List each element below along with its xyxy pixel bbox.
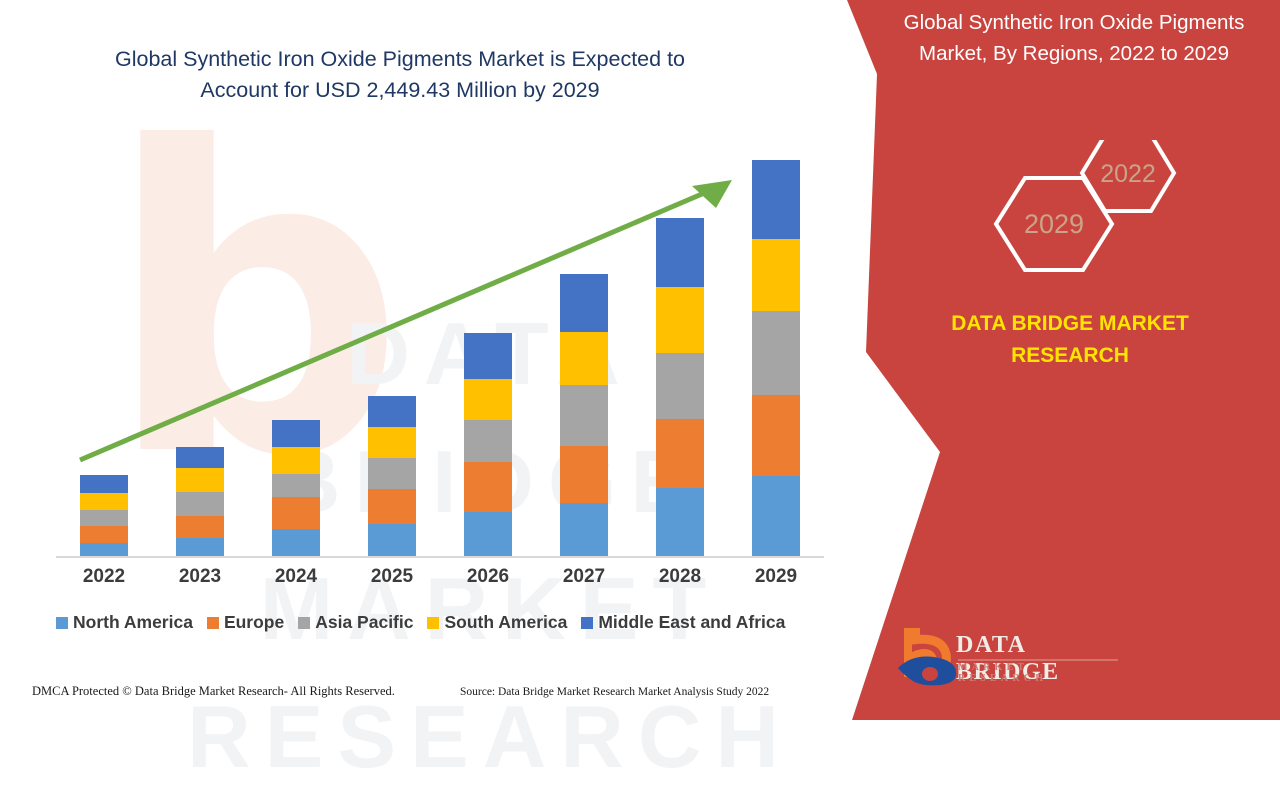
bar-segment-2024-europe <box>272 497 320 529</box>
bar-segment-2026-middle-east-and-africa <box>464 333 512 379</box>
bar-segment-2024-north-america <box>272 529 320 557</box>
bar-2026[interactable] <box>464 333 512 557</box>
x-tick-2027: 2027 <box>536 566 632 588</box>
bar-segment-2026-south-america <box>464 379 512 421</box>
bar-2022[interactable] <box>80 475 128 557</box>
chart-title: Global Synthetic Iron Oxide Pigments Mar… <box>40 44 760 106</box>
bar-segment-2025-middle-east-and-africa <box>368 396 416 427</box>
bar-segment-2024-middle-east-and-africa <box>272 420 320 447</box>
bar-segment-2025-asia-pacific <box>368 458 416 489</box>
bar-segment-2029-north-america <box>752 476 800 557</box>
legend-label: Asia Pacific <box>315 612 413 633</box>
hexagon-2022-label: 2022 <box>1100 160 1156 188</box>
logo-subtitle: MARKET RESEARCH <box>958 662 1120 684</box>
x-axis-line <box>56 556 824 558</box>
bar-segment-2023-middle-east-and-africa <box>176 447 224 468</box>
bar-2025[interactable] <box>368 396 416 557</box>
bar-segment-2028-north-america <box>656 488 704 557</box>
bar-segment-2028-south-america <box>656 287 704 353</box>
legend-label: North America <box>73 612 193 633</box>
legend-item-north-america[interactable]: North America <box>56 612 193 633</box>
bar-segment-2028-europe <box>656 419 704 487</box>
x-axis-tick-labels: 20222023202420252026202720282029 <box>56 566 824 596</box>
bar-segment-2023-europe <box>176 516 224 537</box>
brand-name: DATA BRIDGE MARKET RESEARCH <box>860 308 1280 371</box>
x-tick-2022: 2022 <box>56 566 152 588</box>
x-tick-2026: 2026 <box>440 566 536 588</box>
legend-swatch-icon <box>581 617 593 629</box>
legend-swatch-icon <box>427 617 439 629</box>
bar-segment-2025-europe <box>368 489 416 524</box>
x-tick-2023: 2023 <box>152 566 248 588</box>
legend-label: Middle East and Africa <box>598 612 785 633</box>
x-tick-2025: 2025 <box>344 566 440 588</box>
bar-segment-2022-asia-pacific <box>80 510 128 526</box>
bar-segment-2029-asia-pacific <box>752 311 800 395</box>
legend-label: Europe <box>224 612 284 633</box>
bar-segment-2023-asia-pacific <box>176 492 224 517</box>
bar-segment-2025-north-america <box>368 524 416 557</box>
bar-2029[interactable] <box>752 160 800 557</box>
legend-item-asia-pacific[interactable]: Asia Pacific <box>298 612 413 633</box>
bar-segment-2022-middle-east-and-africa <box>80 475 128 493</box>
bar-segment-2029-south-america <box>752 239 800 311</box>
legend-item-europe[interactable]: Europe <box>207 612 284 633</box>
legend-swatch-icon <box>298 617 310 629</box>
bar-segment-2022-europe <box>80 526 128 543</box>
chart-plot-area <box>56 160 824 557</box>
chart-legend: North AmericaEuropeAsia PacificSouth Ame… <box>56 612 836 633</box>
bar-segment-2022-south-america <box>80 493 128 510</box>
bar-2023[interactable] <box>176 447 224 557</box>
footer-source: Source: Data Bridge Market Research Mark… <box>460 686 769 698</box>
bar-segment-2022-north-america <box>80 543 128 557</box>
bar-segment-2027-middle-east-and-africa <box>560 274 608 332</box>
bar-segment-2023-south-america <box>176 468 224 491</box>
bar-segment-2024-asia-pacific <box>272 474 320 497</box>
bar-2024[interactable] <box>272 420 320 557</box>
right-panel-title: Global Synthetic Iron Oxide Pigments Mar… <box>868 8 1280 70</box>
bar-segment-2028-asia-pacific <box>656 353 704 419</box>
x-tick-2029: 2029 <box>728 566 824 588</box>
bar-2028[interactable] <box>656 218 704 557</box>
legend-swatch-icon <box>56 617 68 629</box>
logo-mark-icon <box>890 622 962 694</box>
legend-swatch-icon <box>207 617 219 629</box>
hexagon-years-graphic: 2029 2022 <box>860 140 1280 285</box>
bar-2027[interactable] <box>560 274 608 557</box>
right-panel-content: Global Synthetic Iron Oxide Pigments Mar… <box>860 0 1280 720</box>
bar-segment-2023-north-america <box>176 538 224 557</box>
x-tick-2028: 2028 <box>632 566 728 588</box>
legend-item-south-america[interactable]: South America <box>427 612 567 633</box>
bar-segment-2027-south-america <box>560 332 608 385</box>
hexagon-2029-label: 2029 <box>1024 209 1084 239</box>
footer-copyright: DMCA Protected © Data Bridge Market Rese… <box>32 684 395 699</box>
bar-segment-2026-europe <box>464 462 512 512</box>
x-tick-2024: 2024 <box>248 566 344 588</box>
bar-segment-2027-asia-pacific <box>560 385 608 446</box>
bar-segment-2026-asia-pacific <box>464 420 512 462</box>
bar-segment-2029-middle-east-and-africa <box>752 160 800 239</box>
bar-segment-2026-north-america <box>464 512 512 557</box>
legend-item-middle-east-and-africa[interactable]: Middle East and Africa <box>581 612 785 633</box>
data-bridge-logo: DATA BRIDGE MARKET RESEARCH <box>890 622 1120 694</box>
bar-segment-2028-middle-east-and-africa <box>656 218 704 287</box>
chart-panel: Global Synthetic Iron Oxide Pigments Mar… <box>0 0 860 720</box>
bar-segment-2027-north-america <box>560 503 608 557</box>
bar-segment-2025-south-america <box>368 427 416 458</box>
bar-segment-2024-south-america <box>272 447 320 474</box>
legend-label: South America <box>444 612 567 633</box>
bar-segment-2027-europe <box>560 446 608 503</box>
bar-segment-2029-europe <box>752 395 800 476</box>
